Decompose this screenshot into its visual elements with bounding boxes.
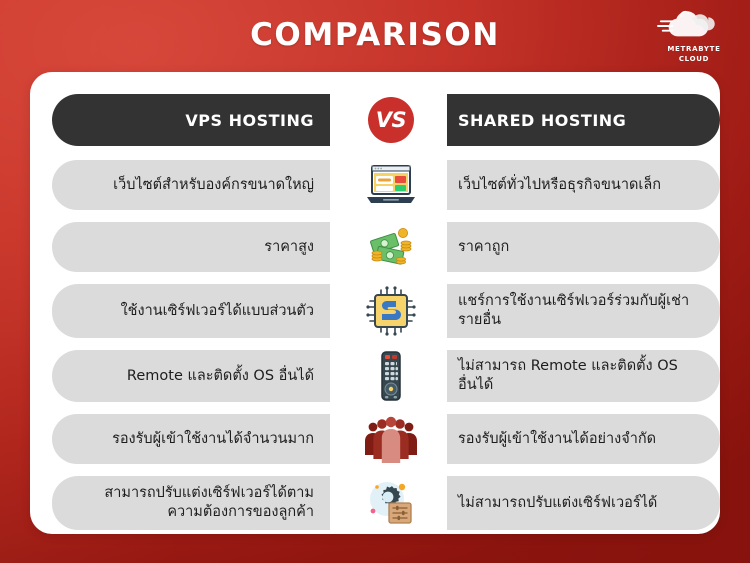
column-header-vps-label: VPS HOSTING	[185, 111, 314, 130]
table-row: Remote และติดตั้ง OS อื่นได้	[30, 350, 720, 402]
row-2-icon-container	[335, 222, 447, 272]
column-header-shared: SHARED HOSTING	[442, 94, 720, 146]
money-cash-icon	[363, 219, 419, 275]
table-row: สามารถปรับแต่งเซิร์ฟเวอร์ได้ตามความต้องก…	[30, 476, 720, 530]
logo-text-line1: METRABYTE	[654, 45, 734, 54]
row-1-icon-container	[335, 160, 447, 210]
comparison-card: VPS HOSTING VS SHARED HOSTING เว็บไซต์สำ…	[30, 72, 720, 534]
row-3-vps-cell: ใช้งานเซิร์ฟเวอร์ได้แบบส่วนตัว	[52, 284, 330, 338]
vs-badge-container: VS	[335, 94, 447, 146]
row-2-vps-cell: ราคาสูง	[52, 222, 330, 272]
row-3-shared-cell: แชร์การใช้งานเซิร์ฟเวอร์ร่วมกับผู้เช่ารา…	[442, 284, 720, 338]
row-5-icon-container	[335, 414, 447, 464]
group-of-people-icon	[363, 411, 419, 467]
comparison-grid: VPS HOSTING VS SHARED HOSTING เว็บไซต์สำ…	[30, 72, 720, 534]
row-2-shared-cell: ราคาถูก	[442, 222, 720, 272]
row-4-vps-text: Remote และติดตั้ง OS อื่นได้	[127, 367, 314, 386]
row-2-shared-text: ราคาถูก	[458, 238, 509, 257]
row-6-shared-cell: ไม่สามารถปรับแต่งเซิร์ฟเวอร์ได้	[442, 476, 720, 530]
gear-settings-icon	[363, 475, 419, 531]
row-3-vps-text: ใช้งานเซิร์ฟเวอร์ได้แบบส่วนตัว	[121, 302, 314, 321]
table-row: เว็บไซต์สำหรับองค์กรขนาดใหญ่	[30, 160, 720, 210]
table-row: ราคาสูง	[30, 222, 720, 272]
row-4-shared-cell: ไม่สามารถ Remote และติดตั้ง OS อื่นได้	[442, 350, 720, 402]
column-header-shared-label: SHARED HOSTING	[458, 111, 626, 130]
row-1-shared-text: เว็บไซต์ทั่วไปหรือธุรกิจขนาดเล็ก	[458, 176, 661, 195]
row-6-icon-container	[335, 476, 447, 530]
row-4-icon-container	[335, 350, 447, 402]
row-2-vps-text: ราคาสูง	[264, 238, 314, 257]
row-5-shared-text: รองรับผู้เข้าใช้งานได้อย่างจำกัด	[458, 430, 656, 449]
row-5-vps-cell: รองรับผู้เข้าใช้งานได้จำนวนมาก	[52, 414, 330, 464]
row-5-shared-cell: รองรับผู้เข้าใช้งานได้อย่างจำกัด	[442, 414, 720, 464]
row-3-icon-container	[335, 284, 447, 338]
cpu-chip-icon	[363, 283, 419, 339]
metrabyte-cloud-logo: METRABYTE CLOUD	[654, 8, 734, 66]
row-1-vps-cell: เว็บไซต์สำหรับองค์กรขนาดใหญ่	[52, 160, 330, 210]
row-4-shared-text: ไม่สามารถ Remote และติดตั้ง OS อื่นได้	[458, 357, 698, 395]
comparison-poster: COMPARISON METRABYTE CLOUD VPS HOSTING V…	[0, 0, 750, 563]
table-row: รองรับผู้เข้าใช้งานได้จำนวนมาก	[30, 414, 720, 464]
laptop-website-icon	[363, 157, 419, 213]
row-5-vps-text: รองรับผู้เข้าใช้งานได้จำนวนมาก	[112, 430, 314, 449]
logo-text-line2: CLOUD	[654, 55, 734, 64]
remote-control-icon	[363, 348, 419, 404]
row-4-vps-cell: Remote และติดตั้ง OS อื่นได้	[52, 350, 330, 402]
row-6-shared-text: ไม่สามารถปรับแต่งเซิร์ฟเวอร์ได้	[458, 494, 657, 513]
vs-badge: VS	[368, 97, 414, 143]
cloud-icon	[655, 8, 733, 44]
row-6-vps-text: สามารถปรับแต่งเซิร์ฟเวอร์ได้ตามความต้องก…	[74, 484, 314, 522]
row-3-shared-text: แชร์การใช้งานเซิร์ฟเวอร์ร่วมกับผู้เช่ารา…	[458, 292, 698, 330]
row-1-shared-cell: เว็บไซต์ทั่วไปหรือธุรกิจขนาดเล็ก	[442, 160, 720, 210]
row-1-vps-text: เว็บไซต์สำหรับองค์กรขนาดใหญ่	[113, 176, 314, 195]
row-6-vps-cell: สามารถปรับแต่งเซิร์ฟเวอร์ได้ตามความต้องก…	[52, 476, 330, 530]
table-header-row: VPS HOSTING VS SHARED HOSTING	[30, 94, 720, 146]
column-header-vps: VPS HOSTING	[52, 94, 330, 146]
page-title: COMPARISON	[0, 17, 750, 53]
table-row: ใช้งานเซิร์ฟเวอร์ได้แบบส่วนตัว	[30, 284, 720, 338]
